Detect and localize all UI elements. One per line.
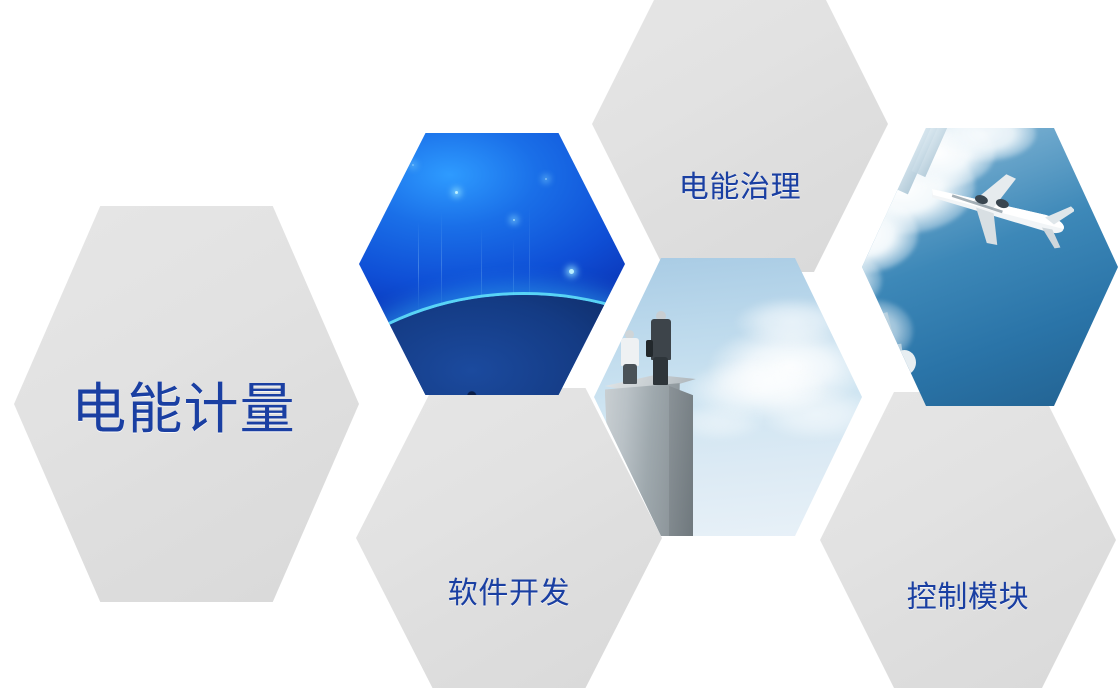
hex-cell-sky-image[interactable]: [862, 128, 1118, 406]
hex-label-governance: 电能治理: [679, 162, 801, 206]
person-figure: [618, 330, 642, 383]
airplane-over-buildings-photo: [862, 128, 1118, 406]
hex-label-metering: 电能计量: [71, 364, 295, 444]
hex-cell-space-image[interactable]: [359, 133, 625, 395]
hex-cell-control[interactable]: 控制模块: [820, 392, 1116, 688]
hex-cell-governance[interactable]: 电能治理: [592, 0, 888, 272]
airplane-icon: [916, 161, 1075, 272]
infographic-canvas: 电能计量 电能治理 软件开发 控制模块: [0, 0, 1119, 661]
hex-label-software: 软件开发: [448, 568, 570, 612]
person-figure: [648, 311, 675, 383]
hex-label-control: 控制模块: [907, 572, 1029, 616]
hex-cell-metering[interactable]: 电能计量: [14, 206, 359, 602]
blue-planet-from-space-photo: [359, 133, 625, 395]
